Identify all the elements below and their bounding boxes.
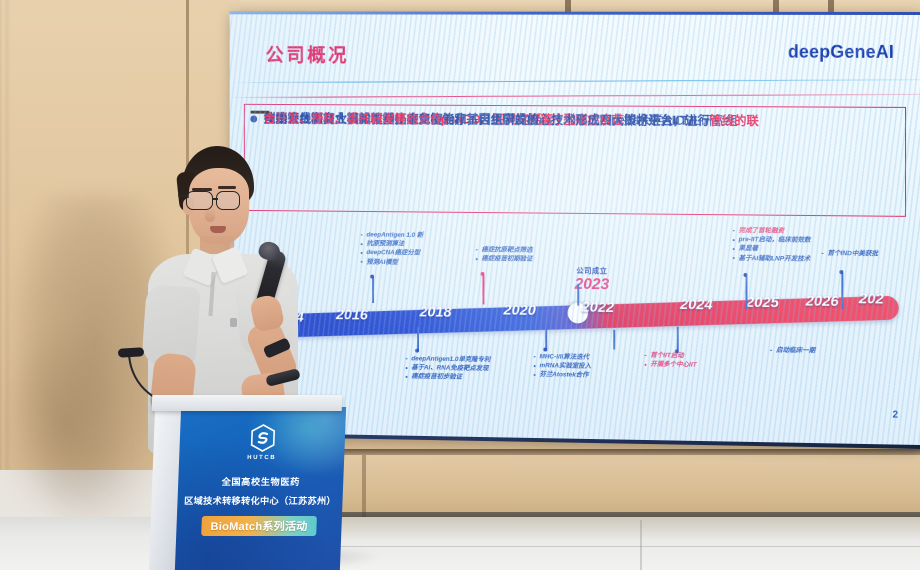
slide-title: 公司概况 xyxy=(266,41,350,68)
header-rule-blue xyxy=(230,79,920,83)
timeline-annotation-group: 首个IND中美获批 xyxy=(822,249,879,259)
timeline-stem xyxy=(745,276,747,310)
glasses-icon xyxy=(186,191,254,211)
timeline-annotation-group: MHC-I/II算法迭代mRNA实验室投入芬兰Atostek合作 xyxy=(534,352,591,380)
bullet-dot-icon xyxy=(250,116,257,123)
wall-shadow-lower xyxy=(0,330,120,520)
timeline-year-label: 202 xyxy=(859,291,884,308)
timeline-annotation-group: deepAntigen1.0单克隆专利基于AI、RNA免疫靶点发现癌症疫苗初步验… xyxy=(406,354,491,382)
timeline-stem xyxy=(613,330,615,350)
timeline-annotation-line: 预测AI模型 xyxy=(361,257,424,267)
timeline-year-label: 2016 xyxy=(336,306,368,323)
timeline-year-label: 2020 xyxy=(504,301,536,318)
timeline-stem xyxy=(577,284,579,306)
header-rule-pink xyxy=(230,94,920,99)
timeline-year-label: 2025 xyxy=(746,294,779,311)
slide-page-number: 2 xyxy=(893,410,899,421)
glasses-bridge xyxy=(212,198,218,200)
projection-screen: 公司概况 deepGeneAI 创始人上海交大石毅教授，来自alphaGO、图灵… xyxy=(230,11,920,449)
timeline-stem-dot xyxy=(543,348,547,352)
mouth xyxy=(210,226,226,233)
hutcb-logo-text: HUTCB xyxy=(179,455,344,461)
biomatch-badge: BioMatch系列活动 xyxy=(201,516,317,536)
timeline-year-labels: 20142016201820202022202420252026202 xyxy=(230,216,920,222)
lectern-line-2: 区域技术转移转化中心（江苏苏州） xyxy=(177,493,343,507)
bullet-text: 合开发、授权、委托研发等的合作。 xyxy=(264,111,455,129)
timeline: 公司成立 2023 201420162018202020222024202520… xyxy=(230,216,920,422)
timeline-annotation-line: 芬兰Atostek合作 xyxy=(534,370,591,380)
conference-photo-scene: 公司概况 deepGeneAI 创始人上海交大石毅教授，来自alphaGO、图灵… xyxy=(0,0,920,570)
bullet-segment: 管线的联 xyxy=(710,114,759,128)
floor-tile-line xyxy=(640,520,642,570)
timeline-annotation-line: 癌症疫苗初步验证 xyxy=(406,372,491,382)
timeline-annotations: deepAntigen 1.0 新抗原预测算法deepCNA癌症分型预测AI模型… xyxy=(230,216,920,222)
hutcb-logo-icon xyxy=(247,423,278,453)
floor-reflection xyxy=(300,517,920,541)
floor-tile-line xyxy=(300,546,920,547)
founding-label: 公司成立 2023 xyxy=(553,265,631,294)
timeline-stem xyxy=(372,278,374,303)
lens-left xyxy=(186,191,213,210)
timeline-stem xyxy=(841,273,843,309)
timeline-year-label: 2024 xyxy=(680,296,713,313)
timeline-year-label: 2026 xyxy=(806,292,839,309)
dado-seam xyxy=(362,455,366,517)
lectern: HUTCB 全国高校生物医药 区域技术转移转化中心（江苏苏州） BioMatch… xyxy=(152,395,342,570)
timeline-stem-dot xyxy=(370,275,374,279)
founding-caption: 公司成立 xyxy=(553,265,631,277)
lectern-line-1: 全国高校生物医药 xyxy=(178,474,344,488)
timeline-stem-dot xyxy=(481,272,485,276)
timeline-annotation-line: 开展多个中心IIT xyxy=(644,360,696,370)
timeline-annotation-group: 首个IIT启动开展多个中心IIT xyxy=(644,351,696,370)
timeline-stem xyxy=(482,275,484,304)
timeline-annotation-line: 基于AI辅助LNP开发技术 xyxy=(733,254,811,264)
timeline-annotation-line: 首个IND中美获批 xyxy=(822,249,879,259)
timeline-annotation-group: 完成了首轮融资pre-IIT启动，临床前效数果显著基于AI辅助LNP开发技术 xyxy=(733,226,811,263)
bullet-segment: 合开发、授权、委托研发等的合作。 xyxy=(264,112,455,127)
presentation-slide: 公司概况 deepGeneAI 创始人上海交大石毅教授，来自alphaGO、图灵… xyxy=(230,11,920,449)
timeline-annotation-group: 癌症抗原靶点筛选癌症疫苗初期验证 xyxy=(476,245,533,264)
lectern-signage: HUTCB 全国高校生物医药 区域技术转移转化中心（江苏苏州） BioMatch… xyxy=(175,407,346,570)
timeline-annotation-line: 癌症疫苗初期验证 xyxy=(476,254,533,264)
company-logo: deepGeneAI xyxy=(788,42,894,63)
timeline-stem-dot xyxy=(415,349,419,353)
timeline-year-label: 2018 xyxy=(419,304,451,321)
lens-right xyxy=(216,191,240,210)
timeline-annotation-group: 启动临床一期 xyxy=(770,346,815,356)
timeline-stem-dot xyxy=(839,270,843,274)
shirt-chest-logo xyxy=(230,318,237,327)
wood-dado-panel xyxy=(300,455,920,517)
timeline-annotation-group: deepAntigen 1.0 新抗原预测算法deepCNA癌症分型预测AI模型 xyxy=(361,230,424,267)
timeline-year-label: 2022 xyxy=(582,299,614,316)
timeline-annotation-line: 启动临床一期 xyxy=(770,346,815,356)
gooseneck-microphone-head xyxy=(118,347,144,357)
timeline-stem xyxy=(417,327,419,351)
eyebrow-right xyxy=(218,186,236,189)
bullet-row: 合开发、授权、委托研发等的合作。 xyxy=(250,111,269,114)
timeline-stem-dot xyxy=(744,273,748,277)
founding-year: 2023 xyxy=(553,276,631,294)
